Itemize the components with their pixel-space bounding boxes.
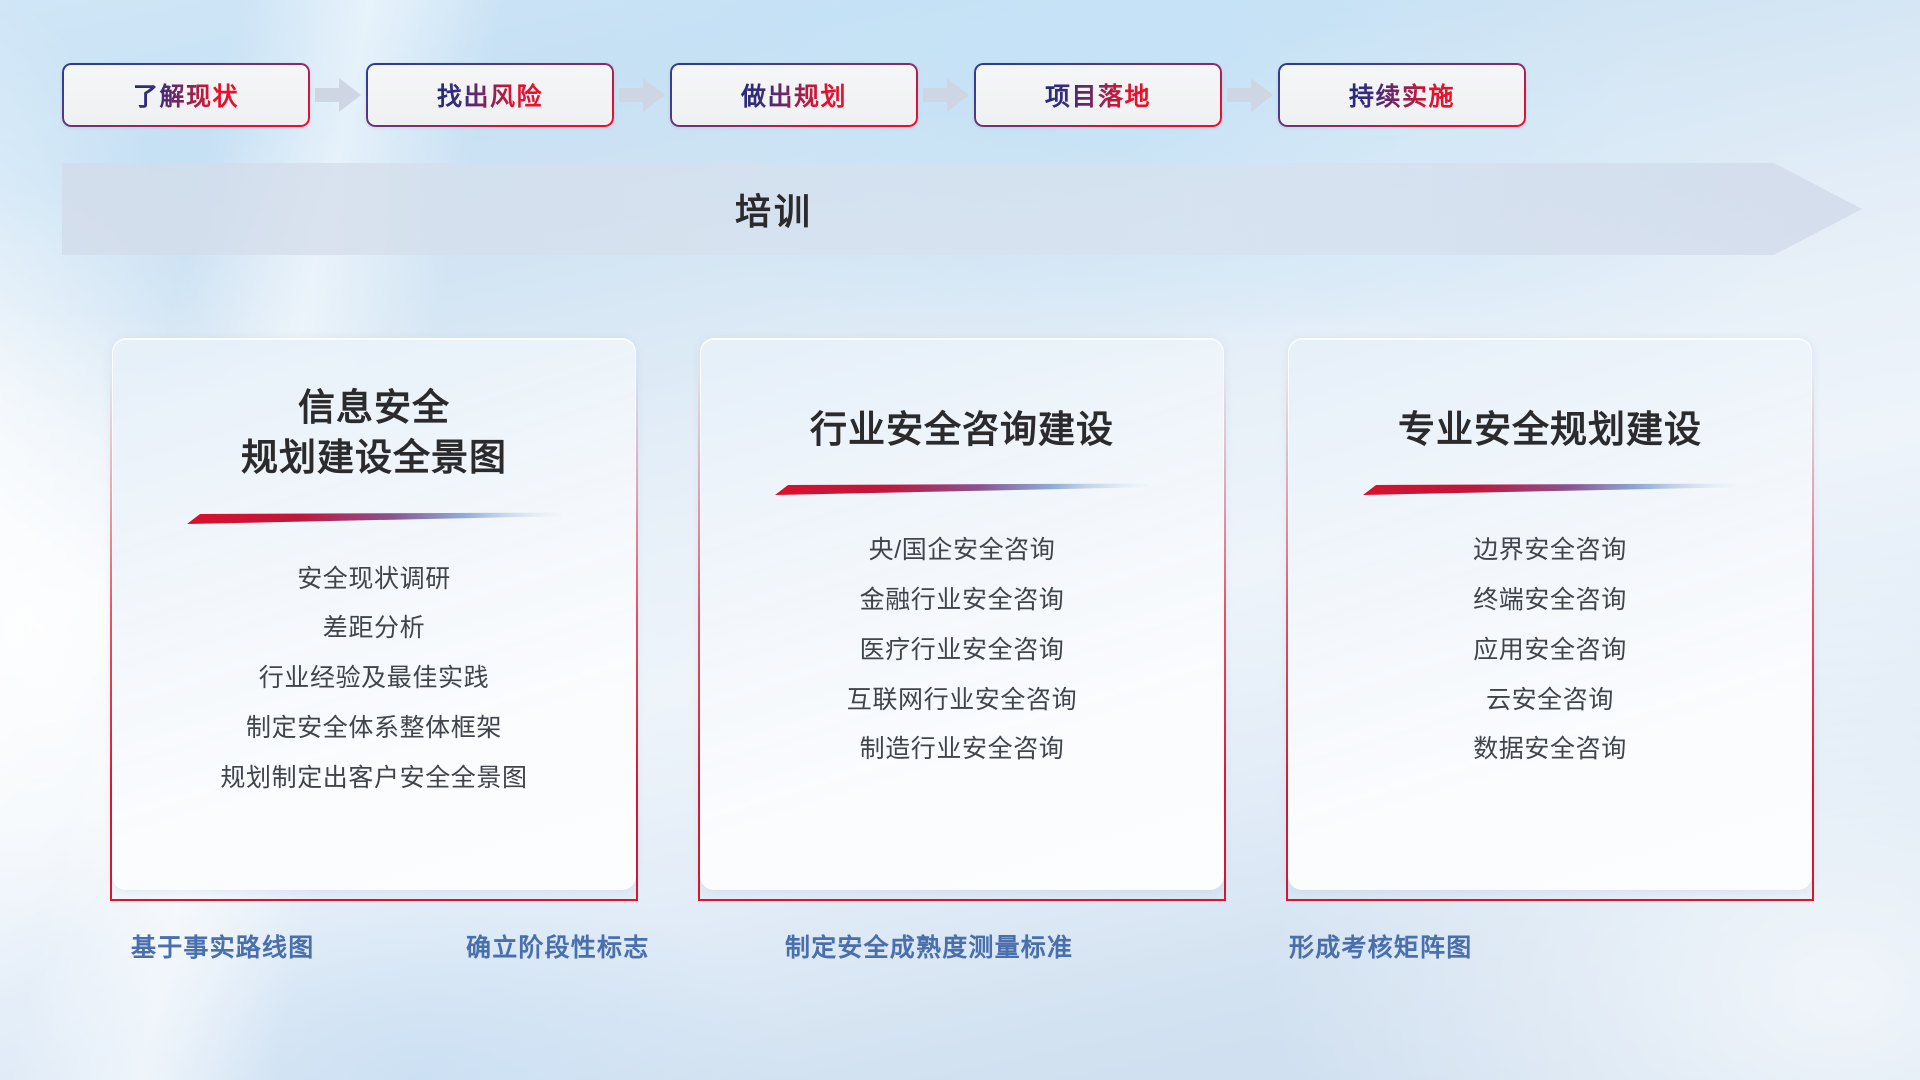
card-professional-security-planning[interactable]: 专业安全规划建设 <box>1288 338 1812 890</box>
card-accent-edge-bottom <box>698 899 1226 901</box>
step-label: 持续实施 <box>1349 77 1455 113</box>
list-item: 行业经验及最佳实践 <box>259 659 489 698</box>
arrow-right-icon <box>918 75 974 115</box>
card-title: 专业安全规划建设 <box>1398 405 1702 455</box>
step-label: 了解现状 <box>133 77 239 113</box>
footer-label: 基于事实路线图 <box>131 928 314 964</box>
step-box-4[interactable]: 项目落地 <box>974 63 1222 127</box>
training-banner: 培训 <box>62 163 1862 255</box>
list-item: 数据安全咨询 <box>1473 730 1627 769</box>
list-item: 安全现状调研 <box>297 560 451 599</box>
card-info-security-panorama[interactable]: 信息安全 规划建设全景图 <box>112 338 636 890</box>
step-box-5[interactable]: 持续实施 <box>1278 63 1526 127</box>
step-box-3[interactable]: 做出规划 <box>670 63 918 127</box>
list-item: 央/国企安全咨询 <box>869 531 1056 570</box>
footer-label: 形成考核矩阵图 <box>1289 928 1472 964</box>
list-item: 规划制定出客户安全全景图 <box>220 759 527 798</box>
card-accent-edge-left <box>110 371 112 901</box>
list-item: 制造行业安全咨询 <box>860 730 1065 769</box>
footer-label: 确立阶段性标志 <box>466 928 649 964</box>
card-list: 央/国企安全咨询 金融行业安全咨询 医疗行业安全咨询 互联网行业安全咨询 制造行… <box>847 531 1077 769</box>
card-accent-edge-bottom <box>110 899 638 901</box>
card-title: 信息安全 规划建设全景图 <box>241 383 507 484</box>
gradient-divider-icon <box>1363 483 1737 497</box>
card-list: 边界安全咨询 终端安全咨询 应用安全咨询 云安全咨询 数据安全咨询 <box>1473 531 1627 769</box>
arrow-right-icon <box>614 75 670 115</box>
gradient-divider-icon <box>187 512 561 526</box>
card-accent-edge-right <box>1812 371 1814 901</box>
card-title: 行业安全咨询建设 <box>810 405 1114 455</box>
card-row: 信息安全 规划建设全景图 <box>112 338 1812 890</box>
list-item: 应用安全咨询 <box>1473 631 1627 670</box>
step-label: 做出规划 <box>741 77 847 113</box>
step-label: 找出风险 <box>437 77 543 113</box>
gradient-divider-icon <box>775 483 1149 497</box>
list-item: 互联网行业安全咨询 <box>847 681 1077 720</box>
slide-canvas: 了解现状 找出风险 做出规划 项目落地 持续实施 <box>0 0 1920 1080</box>
list-item: 边界安全咨询 <box>1473 531 1627 570</box>
card-accent-edge-left <box>1286 371 1288 901</box>
card-accent-edge-right <box>1224 371 1226 901</box>
list-item: 云安全咨询 <box>1486 681 1614 720</box>
card-accent-edge-bottom <box>1286 899 1814 901</box>
list-item: 医疗行业安全咨询 <box>860 631 1065 670</box>
footer-label-row: 基于事实路线图 确立阶段性标志 制定安全成熟度测量标准 形成考核矩阵图 <box>0 928 1920 974</box>
process-step-row: 了解现状 找出风险 做出规划 项目落地 持续实施 <box>62 62 1862 128</box>
arrow-right-icon <box>310 75 366 115</box>
list-item: 差距分析 <box>323 609 425 648</box>
card-accent-edge-left <box>698 371 700 901</box>
footer-label: 制定安全成熟度测量标准 <box>785 928 1073 964</box>
step-box-1[interactable]: 了解现状 <box>62 63 310 127</box>
step-label: 项目落地 <box>1045 77 1151 113</box>
list-item: 终端安全咨询 <box>1473 581 1627 620</box>
list-item: 制定安全体系整体框架 <box>246 709 502 748</box>
card-industry-security-consulting[interactable]: 行业安全咨询建设 <box>700 338 1224 890</box>
card-accent-edge-right <box>636 371 638 901</box>
step-box-2[interactable]: 找出风险 <box>366 63 614 127</box>
card-list: 安全现状调研 差距分析 行业经验及最佳实践 制定安全体系整体框架 规划制定出客户… <box>220 560 527 798</box>
arrow-right-icon <box>1222 75 1278 115</box>
list-item: 金融行业安全咨询 <box>860 581 1065 620</box>
banner-label: 培训 <box>62 163 1486 255</box>
